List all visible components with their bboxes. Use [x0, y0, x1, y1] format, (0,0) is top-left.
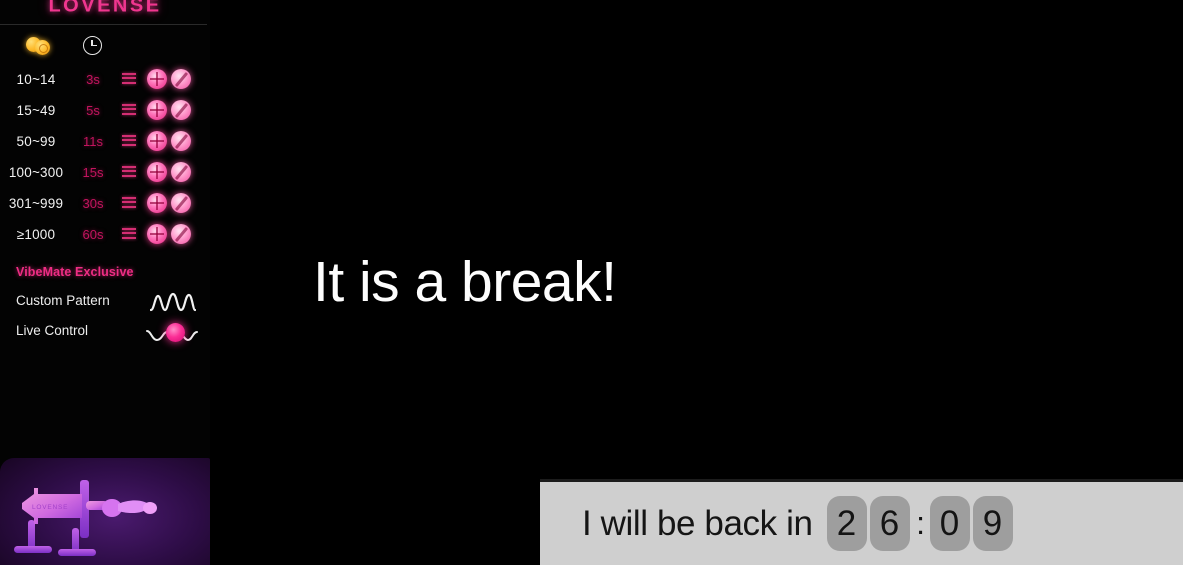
tip-duration-label: 15s: [72, 165, 114, 180]
waveform-icon: [150, 290, 196, 314]
tip-duration-label: 60s: [72, 227, 114, 242]
countdown-digit-second-tens: 0: [930, 496, 970, 551]
machine-toy-icon[interactable]: [147, 193, 167, 213]
product-image-card: LOVENSE: [0, 458, 210, 565]
list-menu-icon[interactable]: [122, 228, 136, 240]
tip-duration-label: 11s: [72, 134, 114, 149]
tip-row: 10~143s: [0, 64, 210, 95]
live-control-icon: [146, 320, 198, 346]
countdown-content: I will be back in 2 6 : 0 9: [582, 496, 1016, 551]
machine-toy-icon[interactable]: [147, 69, 167, 89]
countdown-label: I will be back in: [582, 504, 813, 544]
tip-row: 100~30015s: [0, 157, 210, 188]
no-entry-icon[interactable]: [171, 162, 191, 182]
countdown-digit-minute-ones: 6: [870, 496, 910, 551]
tip-duration-label: 5s: [72, 103, 114, 118]
vibemate-item-custom-pattern[interactable]: Custom Pattern: [0, 288, 210, 316]
tip-range-label: 301~999: [0, 196, 72, 211]
countdown-digit-second-ones: 9: [973, 496, 1013, 551]
no-entry-icon[interactable]: [171, 224, 191, 244]
tip-range-label: 15~49: [0, 103, 72, 118]
machine-toy-icon[interactable]: [147, 224, 167, 244]
countdown-digit-minute-tens: 2: [827, 496, 867, 551]
tip-row: 50~9911s: [0, 126, 210, 157]
no-entry-icon[interactable]: [171, 69, 191, 89]
tip-range-label: ≥1000: [0, 227, 72, 242]
svg-text:LOVENSE: LOVENSE: [32, 504, 68, 511]
live-control-dot: [166, 323, 185, 342]
tip-row: 301~99930s: [0, 188, 210, 219]
list-menu-icon[interactable]: [122, 104, 136, 116]
tip-duration-label: 30s: [72, 196, 114, 211]
no-entry-icon[interactable]: [171, 131, 191, 151]
tip-row: ≥100060s: [0, 219, 210, 250]
tip-table-header: [0, 33, 210, 59]
machine-toy-icon[interactable]: [147, 100, 167, 120]
countdown-separator: :: [913, 505, 929, 542]
clock-icon: [83, 36, 102, 55]
tip-row: 15~495s: [0, 95, 210, 126]
vibemate-item-label: Live Control: [16, 323, 88, 338]
tip-duration-label: 3s: [72, 72, 114, 87]
tip-range-label: 100~300: [0, 165, 72, 180]
machine-toy-icon[interactable]: [147, 162, 167, 182]
tip-range-label: 10~14: [0, 72, 72, 87]
no-entry-icon[interactable]: [171, 193, 191, 213]
vibemate-item-label: Custom Pattern: [16, 293, 110, 308]
countdown-banner: I will be back in 2 6 : 0 9: [540, 479, 1183, 565]
vibemate-item-live-control[interactable]: Live Control: [0, 318, 210, 346]
tip-range-label: 50~99: [0, 134, 72, 149]
list-menu-icon[interactable]: [122, 73, 136, 85]
list-menu-icon[interactable]: [122, 166, 136, 178]
vibemate-section-title: VibeMate Exclusive: [16, 265, 134, 279]
lovense-logo: LOVENSE: [0, 0, 210, 19]
list-menu-icon[interactable]: [122, 135, 136, 147]
header-divider: [0, 24, 207, 25]
lovense-logo-text: LOVENSE: [48, 0, 161, 17]
no-entry-icon[interactable]: [171, 100, 191, 120]
break-message: It is a break!: [313, 249, 616, 315]
lovense-sidebar: LOVENSE 10~143s15~495s50~9911s100~30015s…: [0, 0, 210, 565]
coins-icon: [26, 36, 54, 56]
list-menu-icon[interactable]: [122, 197, 136, 209]
sex-machine-illustration: LOVENSE: [0, 458, 210, 565]
machine-toy-icon[interactable]: [147, 131, 167, 151]
tip-table-body: 10~143s15~495s50~9911s100~30015s301~9993…: [0, 64, 210, 250]
